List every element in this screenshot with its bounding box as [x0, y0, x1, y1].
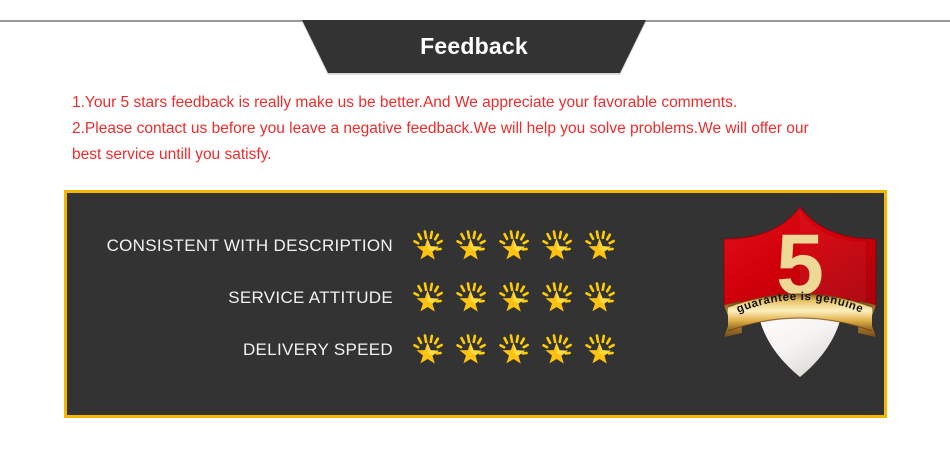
- rating-label-consistent-with-description: CONSISTENT WITH DESCRIPTION: [67, 236, 411, 256]
- star-burst-icon: [411, 280, 447, 316]
- rating-label-service-attitude: SERVICE ATTITUDE: [67, 288, 411, 308]
- guarantee-badge: 5 guarantee is genuine: [720, 201, 880, 409]
- star-burst-icon: [583, 280, 619, 316]
- ratings-panel: CONSISTENT WITH DESCRIPTION: [64, 190, 887, 418]
- rating-row: DELIVERY SPEED: [67, 325, 647, 374]
- header-banner: Feedback: [296, 20, 652, 73]
- rating-stars-delivery-speed: [411, 332, 619, 368]
- star-burst-icon: [411, 228, 447, 264]
- star-burst-icon: [454, 332, 490, 368]
- star-burst-icon: [454, 280, 490, 316]
- note-line-3: best service untill you satisfy.: [72, 142, 902, 168]
- page-title: Feedback: [296, 33, 652, 60]
- star-burst-icon: [583, 228, 619, 264]
- star-burst-icon: [540, 332, 576, 368]
- star-burst-icon: [497, 280, 533, 316]
- feedback-page: Feedback 1.Your 5 stars feedback is real…: [0, 0, 950, 459]
- ratings-list: CONSISTENT WITH DESCRIPTION: [67, 221, 647, 377]
- star-burst-icon: [497, 228, 533, 264]
- rating-stars-service-attitude: [411, 280, 619, 316]
- star-burst-icon: [540, 280, 576, 316]
- rating-row: SERVICE ATTITUDE: [67, 273, 647, 322]
- rating-row: CONSISTENT WITH DESCRIPTION: [67, 221, 647, 270]
- star-burst-icon: [497, 332, 533, 368]
- note-line-1: 1.Your 5 stars feedback is really make u…: [72, 90, 902, 116]
- note-line-2: 2.Please contact us before you leave a n…: [72, 116, 902, 142]
- rating-label-delivery-speed: DELIVERY SPEED: [67, 340, 411, 360]
- shield-icon: 5 guarantee is genuine: [720, 201, 880, 409]
- star-burst-icon: [411, 332, 447, 368]
- feedback-notes: 1.Your 5 stars feedback is really make u…: [72, 90, 902, 168]
- star-burst-icon: [583, 332, 619, 368]
- rating-stars-consistent-with-description: [411, 228, 619, 264]
- star-burst-icon: [540, 228, 576, 264]
- star-burst-icon: [454, 228, 490, 264]
